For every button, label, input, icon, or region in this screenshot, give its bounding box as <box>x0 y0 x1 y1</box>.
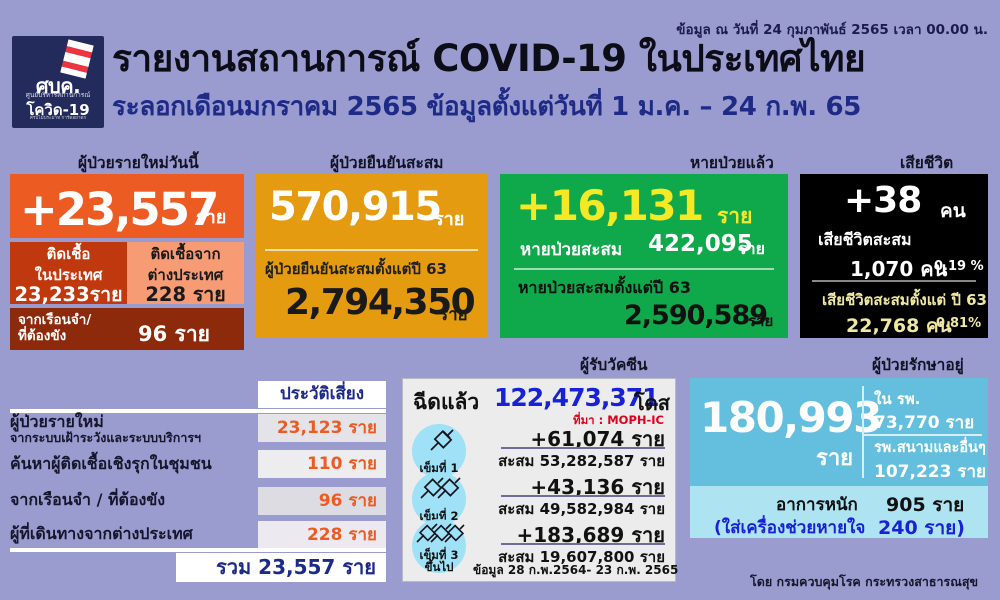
vaccine-injected-label: ฉีดแล้ว <box>413 386 479 419</box>
page-subtitle: ระลอกเดือนมกราคม 2565 ข้อมูลตั้งแต่วันที… <box>112 94 861 120</box>
dose-1-badge: เข็มที่ 1 <box>412 424 466 478</box>
risk-row-0-label-sub: จากระบบเฝ้าระวังและระบบบริการฯ <box>10 431 201 444</box>
risk-row-0-label-main: ผู้ป่วยรายใหม่ <box>10 414 201 431</box>
imported-label-line1: ติดเชื้อจาก <box>127 242 244 263</box>
new-cases-total-value: +23,557 <box>20 183 217 236</box>
treatment-field-label: รพ.สนามและอื่นๆ <box>874 436 986 459</box>
risk-history-caption-box: ประวัติเสี่ยง <box>258 381 386 408</box>
risk-row-label-1: ค้นหาผู้ติดเชื้อเชิงรุกในชุมชน <box>10 456 212 473</box>
domestic-cases-card: ติดเชื้อ ในประเทศ 23,233ราย <box>10 242 127 304</box>
risk-history-caption: ประวัติเสี่ยง <box>258 381 386 408</box>
deaths-card: +38 คน เสียชีวิตสะสม 1,070 คน 0.19 % เสี… <box>800 174 988 338</box>
syringe-icon <box>412 520 466 548</box>
vaccine-card: ฉีดแล้ว 122,473,371 โดส ที่มา : MOPH-IC … <box>402 378 676 582</box>
recovered-caption: หายป่วยแล้ว <box>690 156 774 172</box>
domestic-value: 23,233ราย <box>10 284 127 305</box>
imported-cases-card: ติดเชื้อจาก ต่างประเทศ 228 ราย <box>127 242 244 304</box>
deaths-cumulative-pct: 0.19 % <box>934 259 984 274</box>
divider <box>812 280 976 282</box>
risk-row-3-label-main: ผู้ที่เดินทางจากต่างประเทศ <box>10 526 193 543</box>
recovered-since-unit: ราย <box>748 309 773 333</box>
logo-line4: ครบไม่ประมาท การ์ดอย่าตก <box>12 115 104 122</box>
prison-label-line2: ที่ต้องขัง <box>18 328 91 344</box>
treatment-hospital-value: 73,770 ราย <box>874 409 974 436</box>
confirmed-unit: ราย <box>434 204 464 233</box>
risk-row-value-2: 96 ราย <box>258 487 386 515</box>
deaths-today-unit: คน <box>940 196 966 226</box>
new-cases-total-unit: ราย <box>196 202 226 231</box>
new-cases-caption: ผู้ป่วยรายใหม่วันนี้ <box>78 156 199 172</box>
confirmed-caption: ผู้ป่วยยืนยันสะสม <box>330 156 444 172</box>
new-cases-total-card: +23,557 ราย <box>10 174 244 238</box>
confirmed-cumulative-card: 570,915 ราย ผู้ป่วยยืนยันสะสมตั้งแต่ปี 6… <box>255 174 488 338</box>
recovered-today-unit: ราย <box>717 200 752 233</box>
risk-row-label-3: ผู้ที่เดินทางจากต่างประเทศ <box>10 526 193 543</box>
treatment-total-value: 180,993 <box>700 393 881 442</box>
divider <box>514 268 774 270</box>
divider <box>265 249 478 251</box>
treatment-caption: ผู้ป่วยรักษาอยู่ <box>872 358 964 374</box>
imported-label-line2: ต่างประเทศ <box>127 263 244 284</box>
syringe-icon <box>412 426 466 456</box>
prison-cases-card: จากเรือนจำ/ ที่ต้องขัง 96 ราย <box>10 308 244 350</box>
ventilator-value: 240 ราย) <box>878 513 965 543</box>
recovered-cumulative-unit: ราย <box>738 237 765 262</box>
page-title: รายงานสถานการณ์ COVID-19 ในประเทศไทย <box>112 40 865 77</box>
divider-vertical <box>862 386 864 478</box>
recovered-cumulative-label: หายป่วยสะสม <box>520 236 622 263</box>
risk-row-value-0: 23,123 ราย <box>258 414 386 442</box>
recovered-since-value: 2,590,589 <box>624 300 767 331</box>
domestic-label-line2: ในประเทศ <box>10 263 127 284</box>
confirmed-since-label: ผู้ป่วยยืนยันสะสมตั้งแต่ปี 63 <box>265 257 447 281</box>
risk-row-label-2: จากเรือนจำ / ที่ต้องขัง <box>10 492 165 509</box>
risk-row-label-0: ผู้ป่วยรายใหม่ จากระบบเฝ้าระวังและระบบบร… <box>10 414 201 444</box>
deaths-today-value: +38 <box>844 180 921 221</box>
treatment-total-unit: ราย <box>816 440 853 475</box>
treatment-field-value: 107,223 ราย <box>874 458 986 485</box>
dose-3-badge: เข็มที่ 3 ขึ้นไป <box>412 519 466 573</box>
recovered-today-value: +16,131 <box>516 181 703 230</box>
risk-row-value-3: 228 ราย <box>258 521 386 549</box>
prison-value: 96 ราย <box>138 318 210 351</box>
domestic-label-line1: ติดเชื้อ <box>10 242 127 263</box>
credit-line: โดย กรมควบคุมโรค กระทรวงสาธารณสุข <box>0 572 978 592</box>
risk-row-value-1: 110 ราย <box>258 450 386 478</box>
confirmed-since-unit: ราย <box>439 301 468 328</box>
treatment-hospital-label: ใน รพ. <box>874 387 920 411</box>
risk-history-rule-bottom <box>10 548 386 552</box>
dose-2-cumulative: สะสม 49,582,984 ราย <box>475 497 665 521</box>
dose-2-badge: เข็มที่ 2 <box>412 472 466 526</box>
ccsa-logo: ศบค. ศูนย์บริหารสถานการณ์ โควิด-19 ครบไม… <box>12 36 104 128</box>
imported-value: 228 ราย <box>127 284 244 305</box>
ventilator-label: (ใส่เครื่องช่วยหายใจ <box>714 514 865 541</box>
syringe-icon <box>412 474 466 504</box>
deaths-since-pct: 0.81% <box>936 316 981 331</box>
risk-row-2-label-main: จากเรือนจำ / ที่ต้องขัง <box>10 492 165 509</box>
recovered-card: +16,131 ราย หายป่วยสะสม 422,095 ราย หายป… <box>500 174 788 338</box>
treatment-card: 180,993 ราย ใน รพ. 73,770 ราย รพ.สนามและ… <box>690 378 988 486</box>
severe-cases-card: อาการหนัก 905 ราย (ใส่เครื่องช่วยหายใจ 2… <box>690 486 988 538</box>
deaths-caption: เสียชีวิต <box>900 156 953 172</box>
recovered-since-label: หายป่วยสะสมตั้งแต่ปี 63 <box>518 276 691 301</box>
prison-label-line1: จากเรือนจำ/ <box>18 312 91 328</box>
confirmed-value: 570,915 <box>269 184 441 230</box>
risk-row-1-label-main: ค้นหาผู้ติดเชื้อเชิงรุกในชุมชน <box>10 456 212 473</box>
deaths-since-label: เสียชีวิตสะสมตั้งแต่ ปี 63 <box>822 288 987 312</box>
deaths-cumulative-label: เสียชีวิตสะสม <box>818 228 912 253</box>
dose-1-cumulative: สะสม 53,282,587 ราย <box>475 449 665 473</box>
vaccine-caption: ผู้รับวัคซีน <box>580 358 647 374</box>
